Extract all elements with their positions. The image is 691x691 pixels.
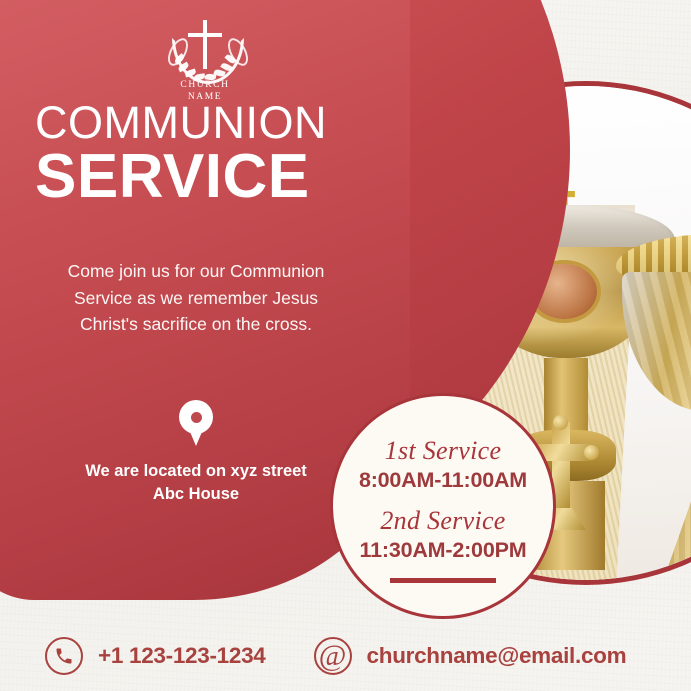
location-line-1: We are located on xyz street: [46, 460, 346, 483]
email-contact[interactable]: @ churchname@email.com: [314, 637, 627, 675]
location-block: We are located on xyz street Abc House: [46, 400, 346, 506]
service-times-badge: 1st Service 8:00AM-11:00AM 2nd Service 1…: [330, 393, 556, 619]
title-line-communion: COMMUNION: [35, 98, 375, 148]
location-address: We are located on xyz street Abc House: [46, 460, 346, 506]
map-pin-icon: [179, 400, 213, 446]
service-1-time: 8:00AM-11:00AM: [359, 466, 527, 494]
intro-paragraph: Come join us for our Communion Service a…: [46, 258, 346, 338]
poster-canvas: CHURCH NAME COMMUNION SERVICE Come join …: [0, 0, 691, 691]
title-line-service: SERVICE: [35, 144, 375, 210]
service-2-time: 11:30AM-2:00PM: [360, 536, 527, 564]
gold-engraved-chalice: [616, 234, 691, 580]
chalice-b-base: [663, 455, 691, 579]
chalice-b-bowl: [622, 272, 691, 410]
at-sign-icon: @: [314, 637, 352, 675]
phone-contact[interactable]: +1 123-123-1234: [45, 637, 266, 675]
phone-icon: [45, 637, 83, 675]
phone-number: +1 123-123-1234: [98, 643, 266, 669]
footer-contact-bar: +1 123-123-1234 @ churchname@email.com: [0, 622, 691, 690]
cross-laurel-icon: [155, 16, 255, 78]
location-line-2: Abc House: [46, 483, 346, 506]
church-logo[interactable]: CHURCH NAME: [155, 16, 255, 103]
page-title: COMMUNION SERVICE: [35, 98, 375, 210]
service-1-name: 1st Service: [385, 436, 502, 466]
email-address: churchname@email.com: [367, 643, 627, 669]
service-2-name: 2nd Service: [380, 506, 505, 536]
badge-divider: [390, 578, 496, 583]
